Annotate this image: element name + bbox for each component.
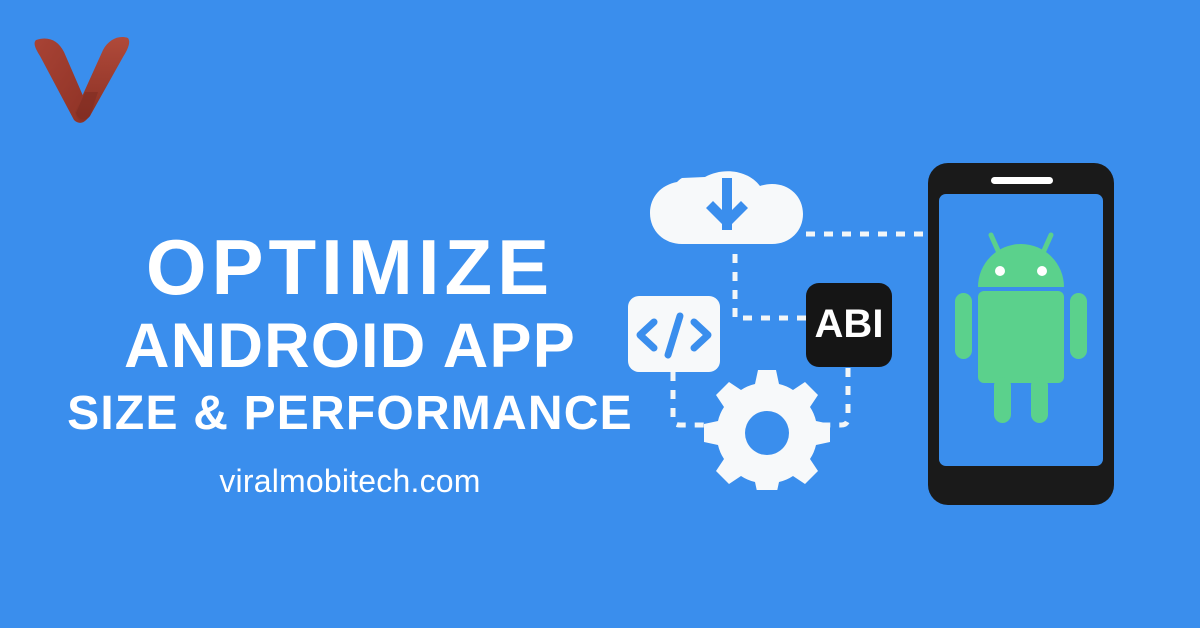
abi-badge[interactable]: ABI	[806, 283, 892, 367]
android-robot-eye-left	[995, 266, 1005, 276]
cloud-download-icon[interactable]	[650, 171, 803, 244]
code-brackets-icon[interactable]	[628, 296, 720, 372]
headline-line-3: SIZE & PERFORMANCE	[0, 388, 700, 441]
android-robot-arm-right	[1070, 293, 1087, 359]
process-diagram: ABI	[610, 150, 950, 490]
headline-line-1: OPTIMIZE	[0, 228, 700, 306]
android-robot-leg-right	[1031, 377, 1048, 423]
android-phone[interactable]	[928, 163, 1114, 505]
gear-icon[interactable]	[704, 370, 830, 490]
headline-block: OPTIMIZE ANDROID APP SIZE & PERFORMANCE …	[0, 228, 700, 500]
android-robot-eye-right	[1037, 266, 1047, 276]
phone-speaker	[991, 177, 1053, 184]
site-url[interactable]: viralmobitech.com	[0, 463, 700, 500]
abi-badge-label: ABI	[815, 302, 884, 346]
brand-logo[interactable]	[28, 30, 136, 130]
headline-line-2: ANDROID APP	[0, 312, 700, 380]
android-robot-leg-left	[994, 377, 1011, 423]
connector-cloud-to-abi	[735, 254, 806, 318]
android-robot-arm-left	[955, 293, 972, 359]
banner-root: OPTIMIZE ANDROID APP SIZE & PERFORMANCE …	[0, 0, 1200, 628]
